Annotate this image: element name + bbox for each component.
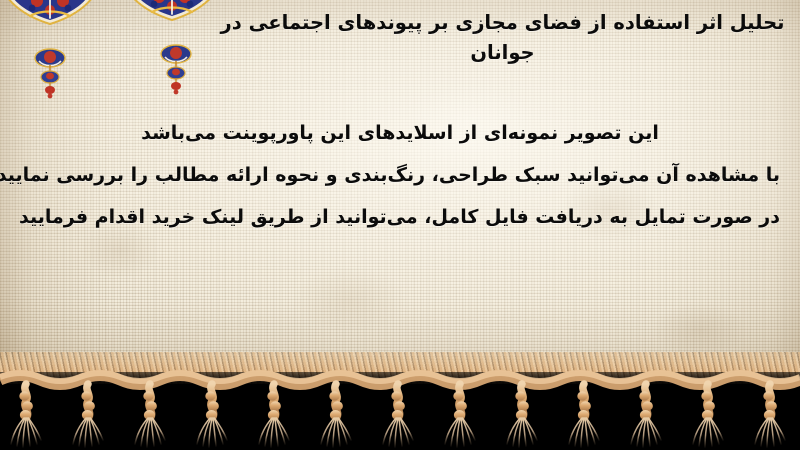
body-line-2: با مشاهده آن می‌توانید سبک طراحی، رنگ‌بن… xyxy=(20,154,780,196)
slide-body-text: این تصویر نمونه‌ای از اسلایدهای این پاور… xyxy=(20,112,780,238)
slide-title-line-1: تحلیل اثر استفاده از فضای مجازی بر پیوند… xyxy=(221,11,785,34)
slide-title-line-2: جوانان xyxy=(470,41,534,64)
body-line-3: در صورت تمایل به دریافت فایل کامل، می‌تو… xyxy=(20,196,780,238)
slide-canvas: تحلیل اثر استفاده از فضای مجازی بر پیوند… xyxy=(0,0,800,450)
selvedge-shadow xyxy=(0,372,800,388)
body-line-1: این تصویر نمونه‌ای از اسلایدهای این پاور… xyxy=(20,112,780,154)
slide-title: تحلیل اثر استفاده از فضای مجازی بر پیوند… xyxy=(215,8,790,68)
persian-medallion-ornaments xyxy=(0,0,240,110)
